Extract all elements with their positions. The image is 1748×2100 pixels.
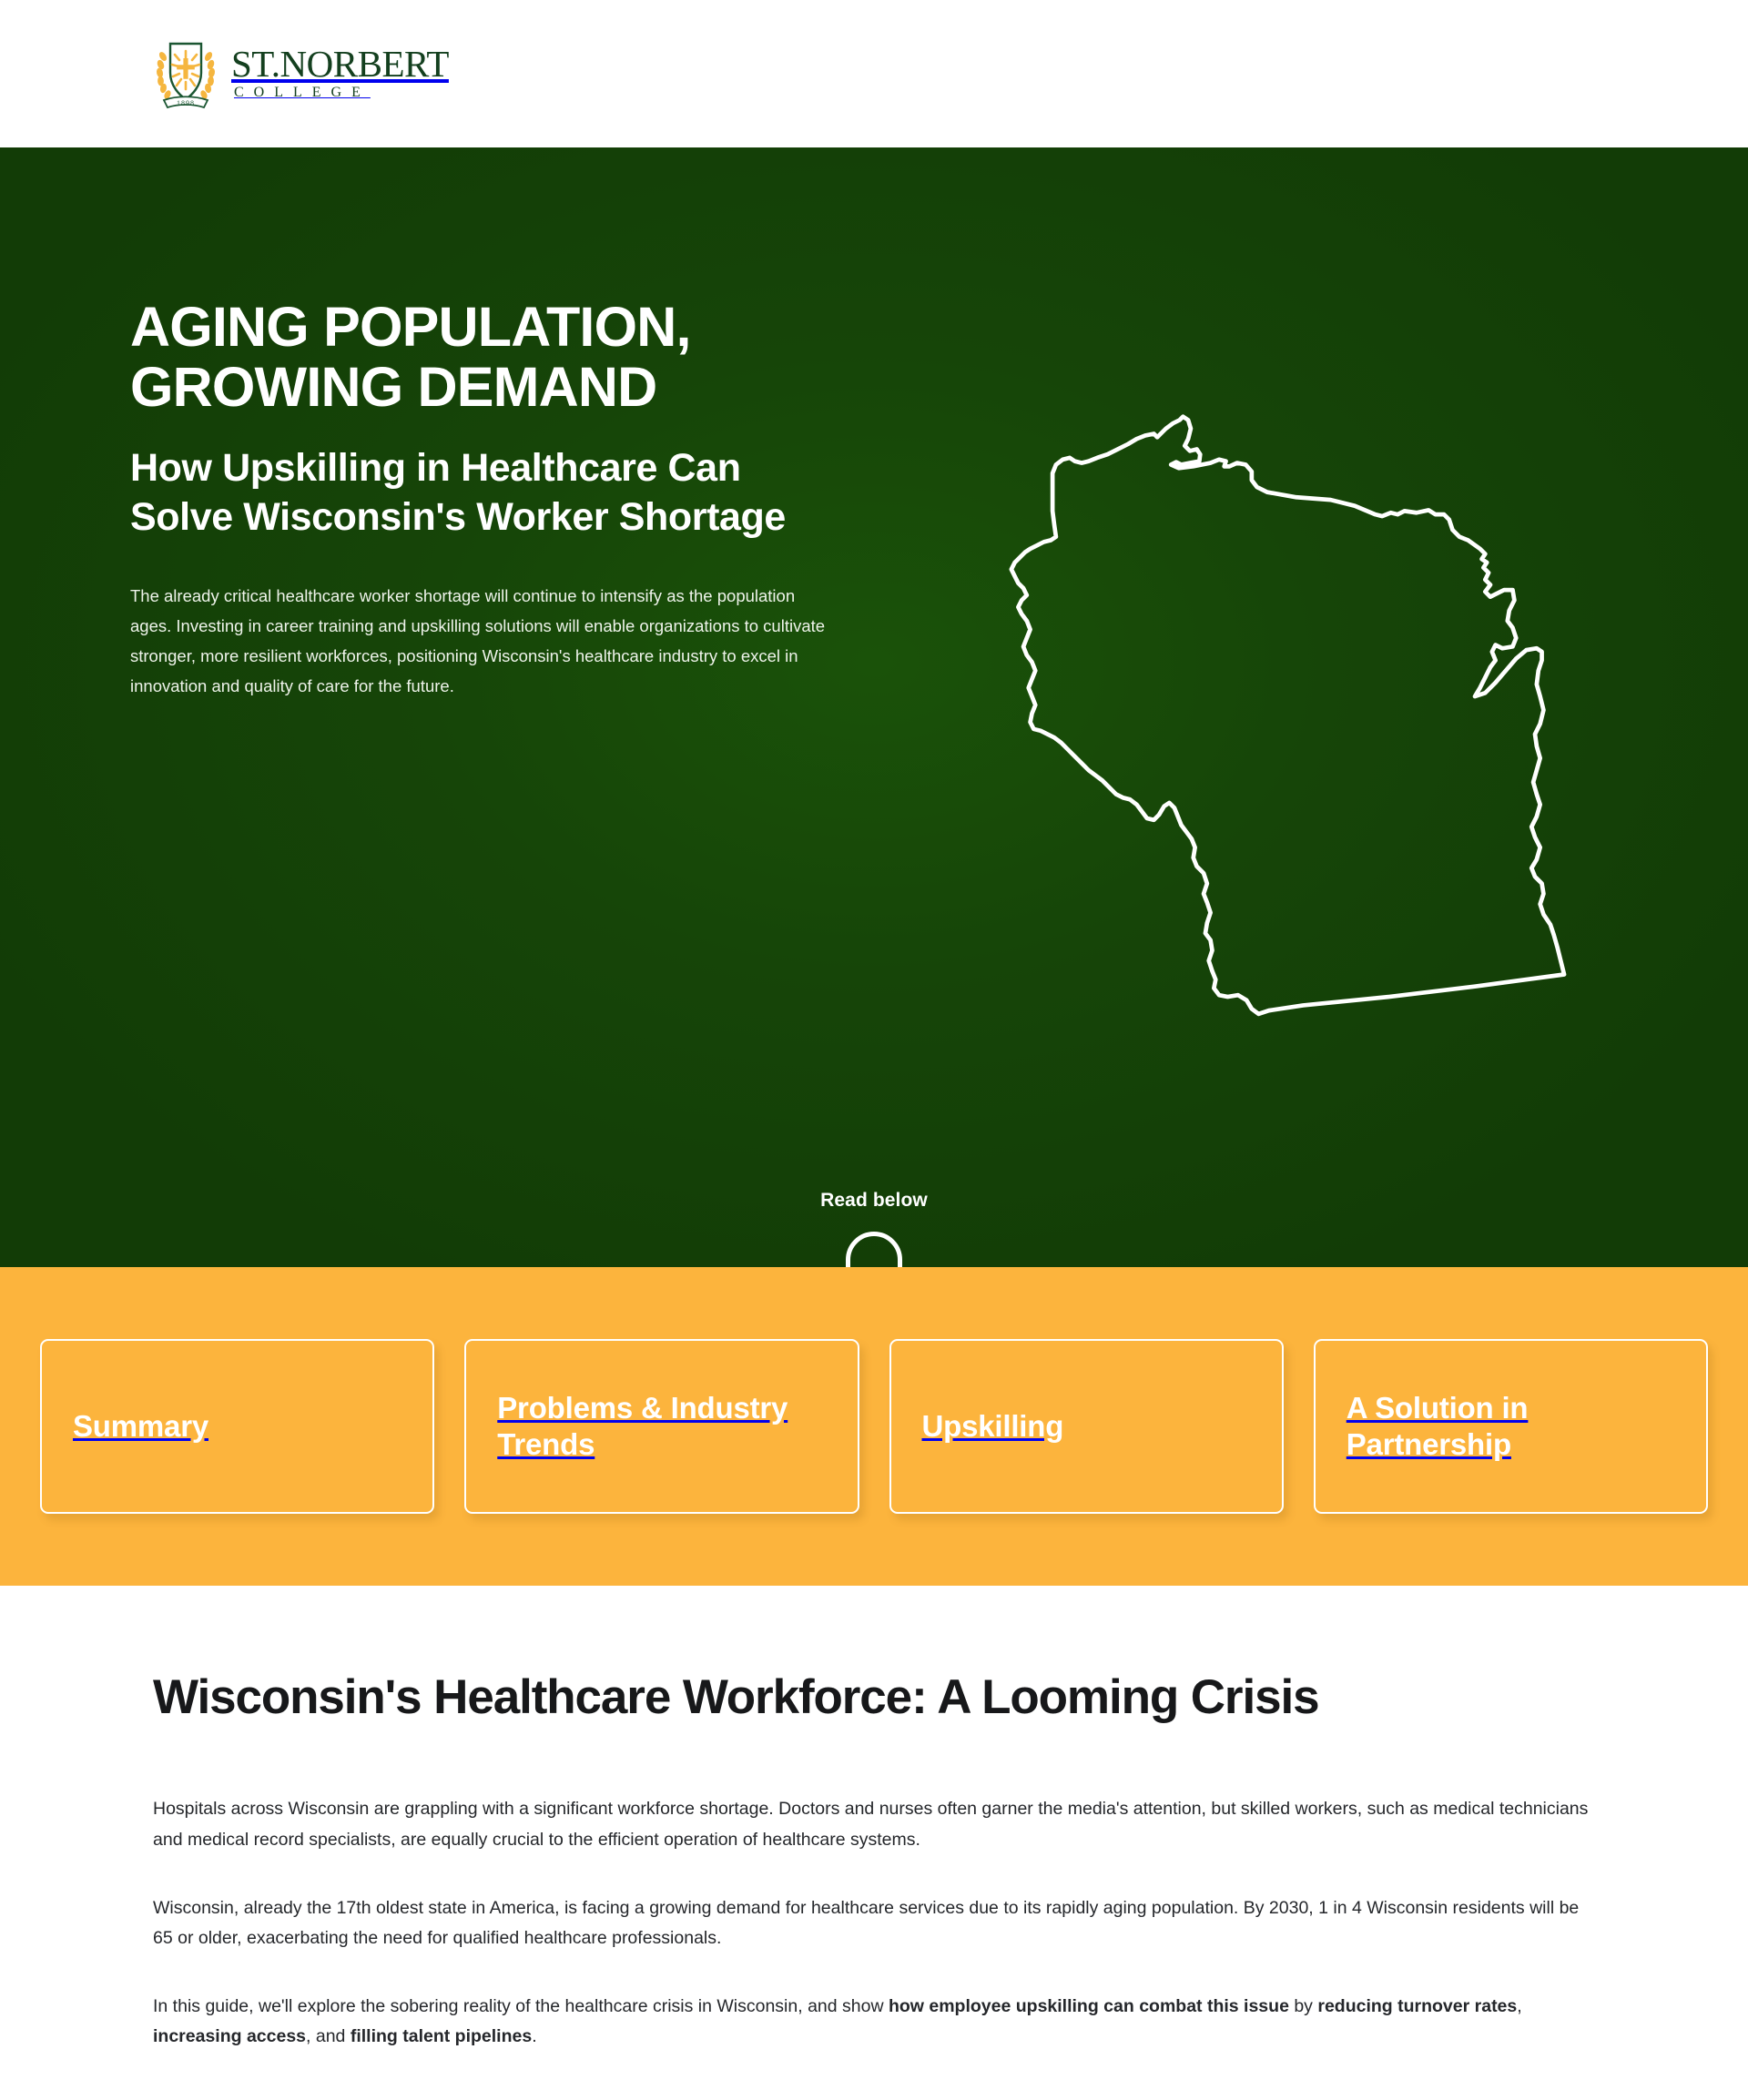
- scroll-down-button[interactable]: [846, 1232, 902, 1267]
- para3-text-3: ,: [1517, 1996, 1521, 2016]
- main-content: Wisconsin's Healthcare Workforce: A Loom…: [0, 1669, 1748, 2052]
- section-heading: Wisconsin's Healthcare Workforce: A Loom…: [153, 1669, 1595, 1725]
- page-title: AGING POPULATION, GROWING DEMAND: [130, 298, 859, 418]
- nav-card-a-solution-in-partnership[interactable]: A Solution in Partnership: [1314, 1339, 1708, 1514]
- st-norbert-shield-crest-icon: 1898: [153, 36, 218, 111]
- body-paragraph-2: Wisconsin, already the 17th oldest state…: [153, 1893, 1595, 1953]
- nav-card-summary[interactable]: Summary: [40, 1339, 434, 1514]
- para3-bold-4: filling talent pipelines: [351, 2026, 532, 2046]
- para3-text-2: by: [1289, 1996, 1317, 2016]
- site-header: 1898 ST.NORBERT COLLEGE: [0, 0, 1748, 147]
- site-logo-link[interactable]: 1898 ST.NORBERT COLLEGE: [153, 36, 449, 111]
- body-paragraph-1: Hospitals across Wisconsin are grappling…: [153, 1794, 1595, 1854]
- nav-card-label: Upskilling: [922, 1408, 1064, 1445]
- nav-card-label: Problems & Industry Trends: [497, 1390, 826, 1463]
- para3-text-4: , and: [306, 2026, 351, 2046]
- chevron-down-icon: [862, 1262, 886, 1267]
- svg-text:1898: 1898: [177, 99, 195, 107]
- para3-bold-1: how employee upskilling can combat this …: [889, 1996, 1289, 2016]
- body-paragraph-3: In this guide, we'll explore the soberin…: [153, 1992, 1595, 2052]
- nav-card-label: Summary: [73, 1408, 208, 1445]
- hero-section: AGING POPULATION, GROWING DEMAND How Ups…: [0, 147, 1748, 1267]
- wisconsin-state-outline-icon: [994, 393, 1595, 1030]
- hero-text-block: AGING POPULATION, GROWING DEMAND How Ups…: [130, 298, 859, 702]
- para3-text-5: .: [532, 2026, 536, 2046]
- para3-text-1: In this guide, we'll explore the soberin…: [153, 1996, 889, 2016]
- para3-bold-3: increasing access: [153, 2026, 306, 2046]
- nav-card-label: A Solution in Partnership: [1347, 1390, 1675, 1463]
- hero-description: The already critical healthcare worker s…: [130, 582, 836, 702]
- logo-name-text: ST.NORBERT: [231, 46, 449, 82]
- para3-bold-2: reducing turnover rates: [1317, 1996, 1517, 2016]
- logo-wordmark: ST.NORBERT COLLEGE: [231, 46, 449, 101]
- page-subtitle: How Upskilling in Healthcare Can Solve W…: [130, 443, 822, 542]
- section-nav-band: Summary Problems & Industry Trends Upski…: [0, 1267, 1748, 1586]
- nav-card-upskilling[interactable]: Upskilling: [889, 1339, 1284, 1514]
- logo-subtitle-text: COLLEGE: [231, 85, 449, 101]
- scroll-hint[interactable]: Read below: [0, 1190, 1748, 1267]
- scroll-hint-label: Read below: [820, 1190, 928, 1212]
- nav-card-problems-industry-trends[interactable]: Problems & Industry Trends: [464, 1339, 859, 1514]
